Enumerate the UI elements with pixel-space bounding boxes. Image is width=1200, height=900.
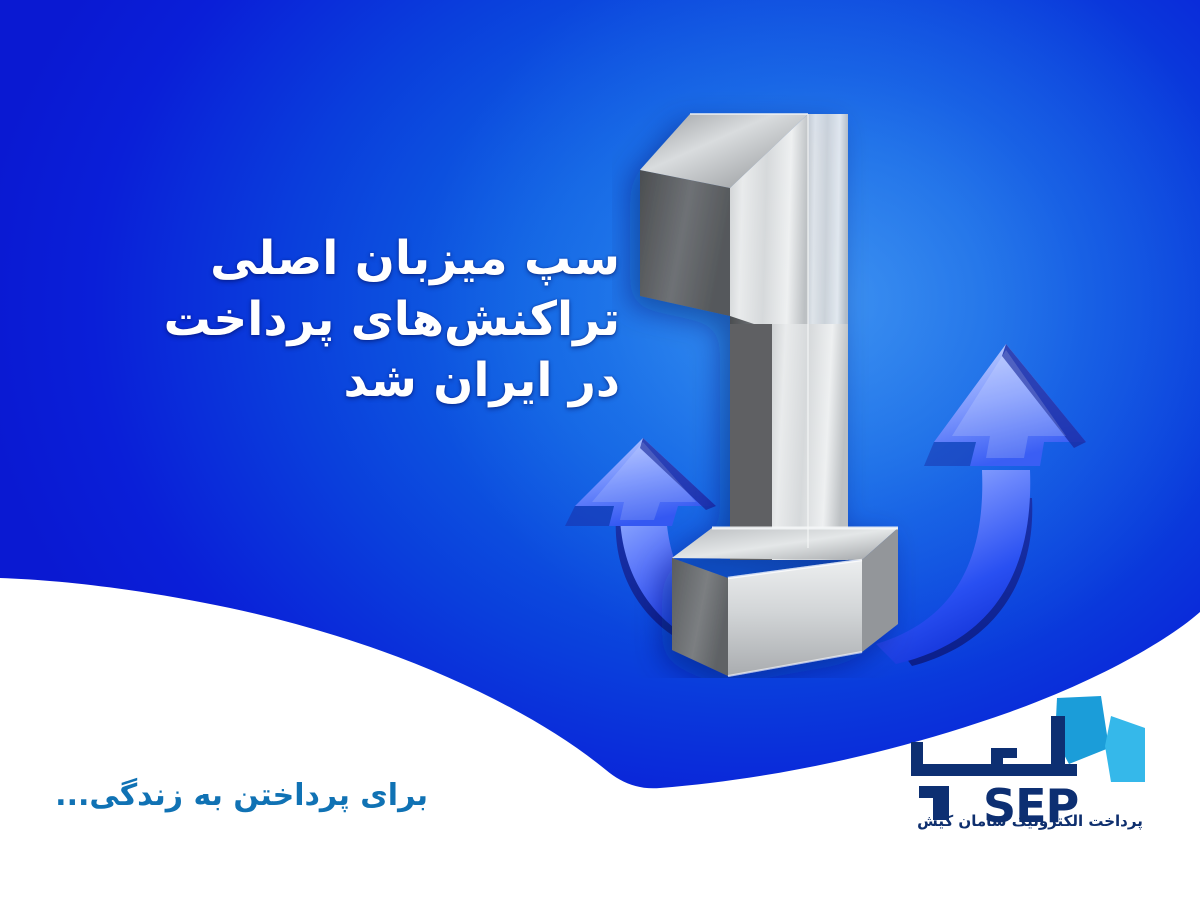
headline-line-1: سپ میزبان اصلی — [100, 228, 620, 289]
numeral-one-3d — [612, 78, 942, 678]
logo-cyan-shape-right — [1105, 716, 1145, 782]
headline: سپ میزبان اصلی تراکنش‌های پرداخت در ایرا… — [100, 228, 620, 411]
headline-line-2: تراکنش‌های پرداخت — [100, 289, 620, 350]
logo-subtitle: پرداخت الکترونیک سامان کیش — [905, 812, 1155, 830]
headline-line-3: در ایران شد — [100, 350, 620, 411]
tagline: برای پرداختن به زندگی... — [48, 778, 428, 813]
poster-canvas: سپ میزبان اصلی تراکنش‌های پرداخت در ایرا… — [0, 0, 1200, 900]
